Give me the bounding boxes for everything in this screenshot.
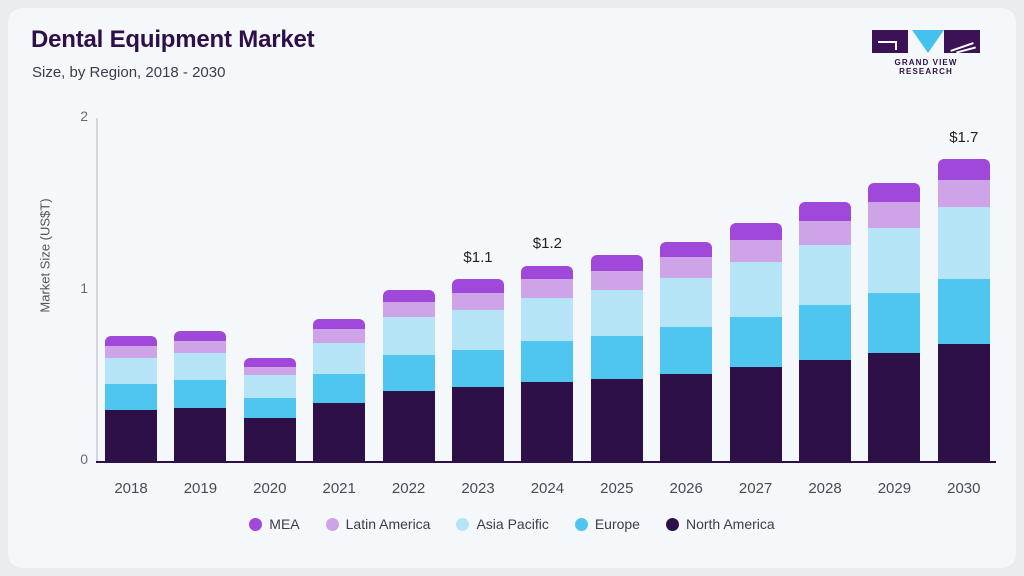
bar-stack[interactable]	[521, 118, 573, 461]
legend-label: Europe	[595, 516, 640, 532]
bar-segment[interactable]	[174, 353, 226, 380]
bar-segment[interactable]	[799, 245, 851, 305]
bar-stack[interactable]	[730, 118, 782, 461]
bar-segment[interactable]	[868, 183, 920, 202]
bar-segment[interactable]	[730, 223, 782, 240]
bar-segment[interactable]	[383, 290, 435, 302]
bar-segment[interactable]	[660, 327, 712, 373]
bar-stack[interactable]	[313, 118, 365, 461]
bar-stack[interactable]	[660, 118, 712, 461]
bar-segment[interactable]	[105, 336, 157, 346]
bar-segment[interactable]	[730, 262, 782, 317]
bar-segment[interactable]	[244, 398, 296, 419]
bar-segment[interactable]	[868, 228, 920, 293]
bar-segment[interactable]	[383, 302, 435, 317]
bar-segment[interactable]	[938, 344, 990, 461]
bar-segment[interactable]	[521, 298, 573, 341]
bar-stack[interactable]	[591, 118, 643, 461]
bar-stack[interactable]	[452, 118, 504, 461]
bar-segment[interactable]	[521, 279, 573, 298]
bar-segment[interactable]	[383, 317, 435, 355]
bar-segment[interactable]	[452, 387, 504, 461]
legend-swatch-circle-icon	[666, 518, 679, 531]
x-axis-tick-label: 2030	[919, 480, 1009, 497]
bar-segment[interactable]	[105, 410, 157, 461]
bar-segment[interactable]	[105, 346, 157, 358]
bar-segment[interactable]	[383, 391, 435, 461]
bar-segment[interactable]	[938, 159, 990, 180]
bar-segment[interactable]	[174, 380, 226, 407]
bar-value-label: $1.2	[502, 235, 592, 252]
bar-value-label: $1.7	[919, 129, 1009, 146]
bar-segment[interactable]	[452, 279, 504, 293]
bar-segment[interactable]	[521, 266, 573, 280]
bar-segment[interactable]	[521, 341, 573, 382]
bar-segment[interactable]	[244, 358, 296, 367]
y-axis-line	[96, 118, 98, 461]
bar-segment[interactable]	[452, 350, 504, 388]
bar-segment[interactable]	[591, 255, 643, 270]
bar-segment[interactable]	[799, 360, 851, 461]
bar-segment[interactable]	[244, 375, 296, 397]
bar-stack[interactable]	[938, 118, 990, 461]
bar-segment[interactable]	[660, 374, 712, 461]
legend-item[interactable]: North America	[666, 516, 775, 532]
legend-label: Latin America	[346, 516, 431, 532]
legend-item[interactable]: Europe	[575, 516, 640, 532]
bar-segment[interactable]	[313, 343, 365, 374]
bar-segment[interactable]	[244, 418, 296, 461]
bar-segment[interactable]	[452, 293, 504, 310]
bar-segment[interactable]	[938, 180, 990, 207]
bar-segment[interactable]	[174, 331, 226, 341]
legend-swatch-circle-icon	[456, 518, 469, 531]
bar-segment[interactable]	[660, 278, 712, 328]
bar-segment[interactable]	[591, 379, 643, 461]
legend-label: Asia Pacific	[476, 516, 548, 532]
stacked-bar-chart: Market Size (US$T) 012 $1.1$1.2$1.7 2018…	[8, 8, 1016, 568]
legend-swatch-circle-icon	[575, 518, 588, 531]
x-axis-line	[96, 461, 996, 463]
bar-stack[interactable]	[383, 118, 435, 461]
legend-swatch-circle-icon	[326, 518, 339, 531]
bar-segment[interactable]	[868, 293, 920, 353]
bar-segment[interactable]	[799, 305, 851, 360]
bar-segment[interactable]	[591, 290, 643, 336]
legend-item[interactable]: Asia Pacific	[456, 516, 548, 532]
y-axis-title: Market Size (US$T)	[38, 156, 53, 356]
legend-item[interactable]: Latin America	[326, 516, 431, 532]
legend-label: North America	[686, 516, 775, 532]
bar-stack[interactable]	[868, 118, 920, 461]
bar-segment[interactable]	[521, 382, 573, 461]
legend-item[interactable]: MEA	[249, 516, 299, 532]
bar-stack[interactable]	[174, 118, 226, 461]
bar-segment[interactable]	[660, 242, 712, 257]
bar-segment[interactable]	[174, 408, 226, 461]
y-axis-tick-label: 0	[48, 451, 88, 467]
bar-segment[interactable]	[591, 271, 643, 290]
bar-segment[interactable]	[730, 240, 782, 262]
y-axis-tick-label: 1	[48, 280, 88, 296]
legend-swatch-circle-icon	[249, 518, 262, 531]
bar-segment[interactable]	[313, 403, 365, 461]
bar-segment[interactable]	[799, 202, 851, 221]
bar-segment[interactable]	[174, 341, 226, 353]
bar-segment[interactable]	[660, 257, 712, 278]
bar-segment[interactable]	[868, 353, 920, 461]
bar-segment[interactable]	[799, 221, 851, 245]
bar-segment[interactable]	[868, 202, 920, 228]
chart-legend: MEALatin AmericaAsia PacificEuropeNorth …	[8, 516, 1016, 532]
bar-segment[interactable]	[730, 317, 782, 367]
bar-segment[interactable]	[105, 384, 157, 410]
chart-card: Dental Equipment Market Size, by Region,…	[8, 8, 1016, 568]
bar-segment[interactable]	[313, 319, 365, 329]
bar-segment[interactable]	[591, 336, 643, 379]
y-axis-tick-label: 2	[48, 108, 88, 124]
bar-stack[interactable]	[244, 118, 296, 461]
legend-label: MEA	[269, 516, 299, 532]
bar-stack[interactable]	[105, 118, 157, 461]
bar-segment[interactable]	[730, 367, 782, 461]
bar-segment[interactable]	[938, 279, 990, 344]
bar-segment[interactable]	[313, 329, 365, 343]
bar-segment[interactable]	[244, 367, 296, 376]
bar-stack[interactable]	[799, 118, 851, 461]
bar-segment[interactable]	[105, 358, 157, 384]
bar-segment[interactable]	[383, 355, 435, 391]
bar-segment[interactable]	[452, 310, 504, 349]
bar-segment[interactable]	[938, 207, 990, 279]
bar-segment[interactable]	[313, 374, 365, 403]
